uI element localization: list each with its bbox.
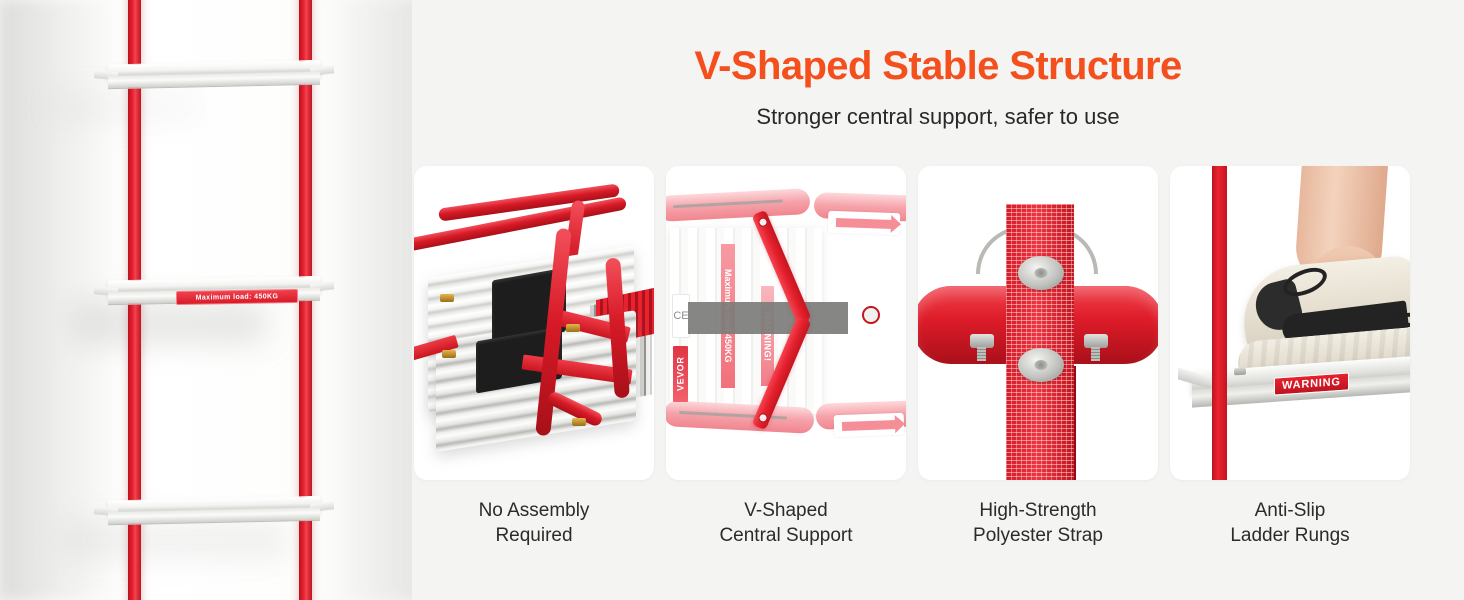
bolt	[1084, 334, 1108, 348]
caption-v-shaped-support: V-Shaped Central Support	[666, 498, 906, 549]
ladder-rung	[108, 496, 320, 516]
page-title: V-Shaped Stable Structure	[412, 44, 1464, 88]
feature-card-anti-slip-rungs[interactable]: WARNING	[1170, 166, 1410, 480]
caption-line: Polyester Strap	[918, 523, 1158, 548]
background-blur-blob	[60, 520, 290, 560]
background-blur-blob	[50, 90, 200, 124]
caption-polyester-strap: High-Strength Polyester Strap	[918, 498, 1158, 549]
brand-label: VEVOR	[673, 346, 688, 402]
arrow-icon	[836, 218, 892, 229]
arrow-icon	[842, 420, 897, 431]
feature-card-row: Maximum load 450KG WARNING! CE VEVOR	[414, 166, 1410, 480]
feature-card-no-assembly[interactable]	[414, 166, 654, 480]
caption-anti-slip-rungs: Anti-Slip Ladder Rungs	[1170, 498, 1410, 549]
caption-line: Ladder Rungs	[1170, 523, 1410, 548]
feature-card-polyester-strap[interactable]	[918, 166, 1158, 480]
brass-rivet	[442, 350, 456, 358]
brace-center-pivot	[862, 306, 880, 324]
red-ladder-rope	[1212, 166, 1227, 480]
caption-line: Required	[414, 523, 654, 548]
metal-rivet	[1018, 256, 1064, 290]
card-photo-folded-ladder	[414, 166, 654, 480]
feature-card-v-shaped-support[interactable]: Maximum load 450KG WARNING! CE VEVOR	[666, 166, 906, 480]
maximum-load-label: Maximum load: 450KG	[176, 289, 298, 305]
heading-block: V-Shaped Stable Structure Stronger centr…	[412, 44, 1464, 130]
caption-line: V-Shaped	[666, 498, 906, 523]
brass-rivet	[440, 294, 454, 302]
caption-no-assembly: No Assembly Required	[414, 498, 654, 549]
brass-rivet	[566, 324, 580, 332]
direction-arrow-label	[828, 211, 901, 235]
direction-arrow-label	[834, 413, 905, 437]
brace-pivot-hole	[757, 216, 769, 228]
ladder-rung	[108, 60, 320, 80]
caption-line: High-Strength	[918, 498, 1158, 523]
rung-screw	[1234, 368, 1246, 376]
left-product-photo: Maximum load: 450KG	[0, 0, 412, 600]
caption-row: No Assembly Required V-Shaped Central Su…	[414, 498, 1410, 549]
card-photo-strap-rivets	[918, 166, 1158, 480]
rung-face	[108, 508, 320, 525]
page-subtitle: Stronger central support, safer to use	[412, 104, 1464, 130]
caption-line: Anti-Slip	[1170, 498, 1410, 523]
card-photo-foot-on-rung: WARNING	[1170, 166, 1410, 480]
warning-sticker: WARNING!	[761, 286, 774, 386]
brass-rivet	[572, 418, 586, 426]
rung-face	[108, 72, 320, 89]
brace-pivot-hole	[757, 412, 769, 424]
metal-rivet	[1018, 348, 1064, 382]
card-photo-v-brace: Maximum load 450KG WARNING! CE VEVOR	[666, 166, 906, 480]
background-blur-blob	[70, 300, 270, 346]
rail-slot	[673, 200, 782, 209]
caption-line: No Assembly	[414, 498, 654, 523]
bolt	[970, 334, 994, 348]
grey-overlay-bar	[688, 302, 848, 334]
caption-line: Central Support	[666, 523, 906, 548]
wall-shadow-right	[330, 0, 412, 600]
polyester-strap	[1006, 204, 1074, 480]
